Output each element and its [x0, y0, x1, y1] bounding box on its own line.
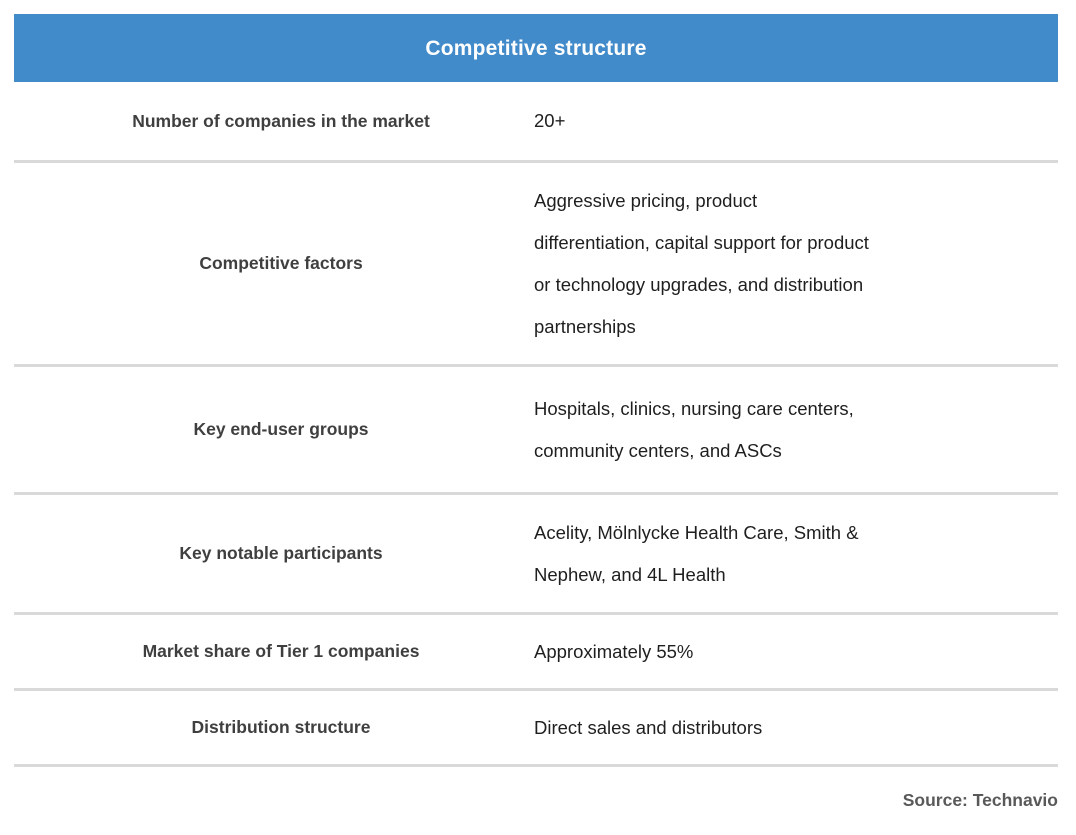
table-body: Number of companies in the market 20+ Co…: [14, 82, 1058, 767]
table-row: Key end-user groups Hospitals, clinics, …: [14, 367, 1058, 492]
row-label: Key end-user groups: [14, 418, 534, 441]
row-label: Number of companies in the market: [14, 110, 534, 133]
row-value: 20+: [534, 100, 1058, 142]
row-label: Key notable participants: [14, 542, 534, 565]
table-header-bar: Competitive structure: [14, 14, 1058, 82]
infographic-table: Competitive structure Number of companie…: [0, 0, 1076, 835]
row-value: Approximately 55%: [534, 631, 1058, 673]
table-row: Market share of Tier 1 companies Approxi…: [14, 615, 1058, 688]
row-label: Competitive factors: [14, 252, 534, 275]
table-row: Competitive factors Aggressive pricing, …: [14, 163, 1058, 364]
row-value: Acelity, Mölnlycke Health Care, Smith & …: [534, 512, 1058, 596]
table-row: Number of companies in the market 20+: [14, 82, 1058, 160]
row-label: Distribution structure: [14, 716, 534, 739]
row-value: Direct sales and distributors: [534, 707, 1058, 749]
page-title: Competitive structure: [425, 38, 646, 59]
table-row: Distribution structure Direct sales and …: [14, 691, 1058, 764]
source-attribution: Source: Technavio: [14, 790, 1058, 811]
row-value: Aggressive pricing, product differentiat…: [534, 180, 1058, 348]
row-value: Hospitals, clinics, nursing care centers…: [534, 388, 1058, 472]
row-label: Market share of Tier 1 companies: [14, 640, 534, 663]
table-bottom-separator: [14, 764, 1058, 767]
table-row: Key notable participants Acelity, Mölnly…: [14, 495, 1058, 612]
